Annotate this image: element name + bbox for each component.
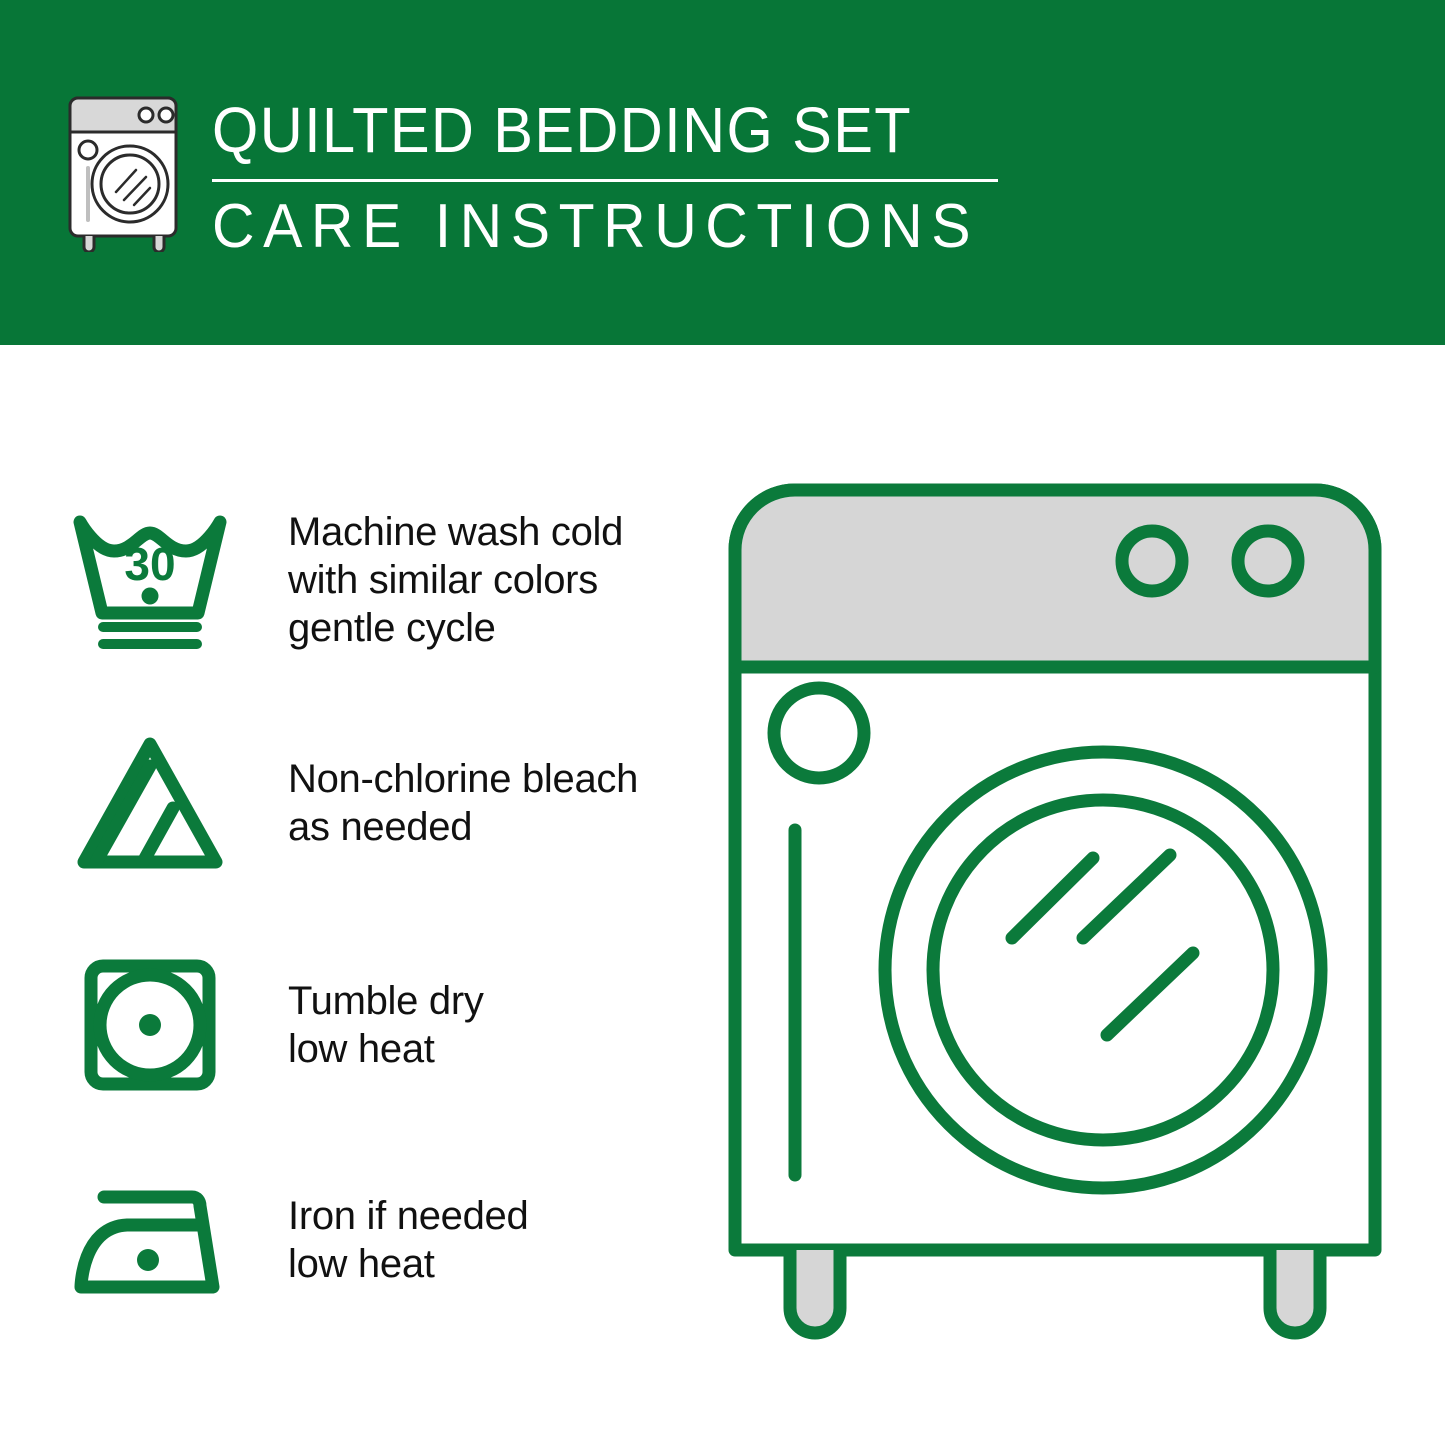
care-item-label: Iron if needed low heat	[288, 1192, 528, 1288]
care-item-label: Non-chlorine bleach as needed	[288, 755, 638, 851]
washer-leg-right	[1270, 1250, 1320, 1333]
page-subtitle: CARE INSTRUCTIONS	[212, 196, 979, 258]
washer-knob-left	[1122, 531, 1182, 591]
care-item-label: Machine wash cold with similar colors ge…	[288, 508, 623, 652]
front-load-washing-machine-illustration	[715, 470, 1395, 1370]
title-divider	[212, 179, 998, 182]
care-item-iron: Iron if needed low heat	[70, 1160, 680, 1320]
washer-door-inner	[933, 800, 1273, 1140]
page-title: QUILTED BEDDING SET	[212, 98, 963, 162]
care-instruction-list: 30 Machine wash cold with similar colors…	[0, 345, 690, 1445]
header-text-block: QUILTED BEDDING SET CARE INSTRUCTIONS	[212, 92, 1019, 258]
iron-low-icon	[70, 1160, 230, 1320]
washer-dial	[774, 688, 864, 778]
header-content: QUILTED BEDDING SET CARE INSTRUCTIONS	[62, 92, 1019, 258]
tumble-dry-low-icon	[70, 945, 230, 1105]
washer-knob-right	[1238, 531, 1298, 591]
wash-temp-label: 30	[124, 538, 175, 590]
care-item-machine-wash: 30 Machine wash cold with similar colors…	[70, 500, 680, 660]
care-item-bleach: Non-chlorine bleach as needed	[70, 723, 680, 883]
header-banner: QUILTED BEDDING SET CARE INSTRUCTIONS	[0, 0, 1445, 345]
washing-machine-icon	[62, 92, 184, 252]
care-item-tumble-dry: Tumble dry low heat	[70, 945, 680, 1105]
bleach-triangle-icon	[70, 723, 230, 883]
care-item-label: Tumble dry low heat	[288, 977, 484, 1073]
care-instructions-page: QUILTED BEDDING SET CARE INSTRUCTIONS 30	[0, 0, 1445, 1445]
washer-leg-left	[790, 1250, 840, 1333]
wash-tub-30-icon: 30	[70, 500, 230, 660]
